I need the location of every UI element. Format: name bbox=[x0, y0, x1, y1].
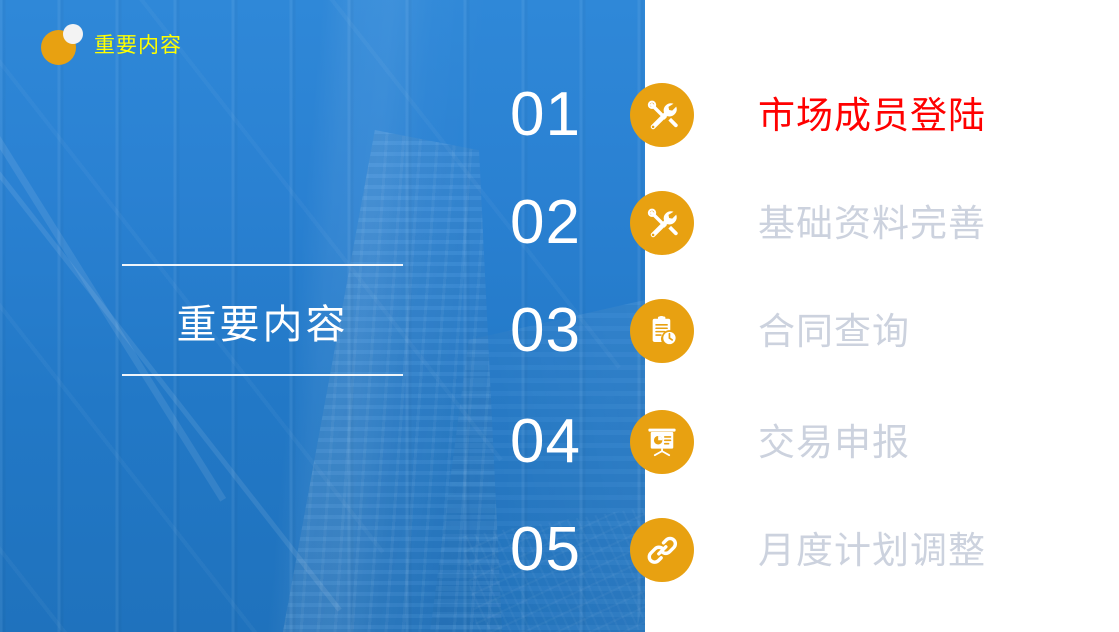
list-item-label: 市场成员登陆 bbox=[758, 97, 986, 134]
clipboard-clock-icon[interactable] bbox=[630, 299, 694, 363]
list-item-number: 05 bbox=[500, 519, 628, 581]
tools-wrench-screwdriver-icon[interactable] bbox=[630, 83, 694, 147]
agenda-list: 01 市场成员登陆 02 bbox=[0, 0, 1119, 632]
list-item-number: 03 bbox=[500, 300, 628, 362]
list-item-label: 合同查询 bbox=[758, 313, 910, 350]
list-item[interactable]: 04 bbox=[500, 398, 910, 486]
list-item[interactable]: 01 市场成员登陆 bbox=[500, 71, 986, 159]
list-item[interactable]: 05 月度计划调整 bbox=[500, 506, 986, 594]
tools-wrench-screwdriver-icon[interactable] bbox=[630, 191, 694, 255]
list-item-label: 基础资料完善 bbox=[758, 205, 986, 242]
list-item-label: 交易申报 bbox=[758, 424, 910, 461]
list-item[interactable]: 03 合同查询 bbox=[500, 287, 910, 375]
presentation-chart-icon[interactable] bbox=[630, 410, 694, 474]
list-item-number: 04 bbox=[500, 411, 628, 473]
list-item-number: 01 bbox=[500, 84, 628, 146]
list-item-label: 月度计划调整 bbox=[758, 532, 986, 569]
slide-root: 重要内容 重要内容 01 市场成员登陆 02 bbox=[0, 0, 1119, 632]
link-chain-icon[interactable] bbox=[630, 518, 694, 582]
list-item-number: 02 bbox=[500, 192, 628, 254]
list-item[interactable]: 02 基础资料完善 bbox=[500, 179, 986, 267]
